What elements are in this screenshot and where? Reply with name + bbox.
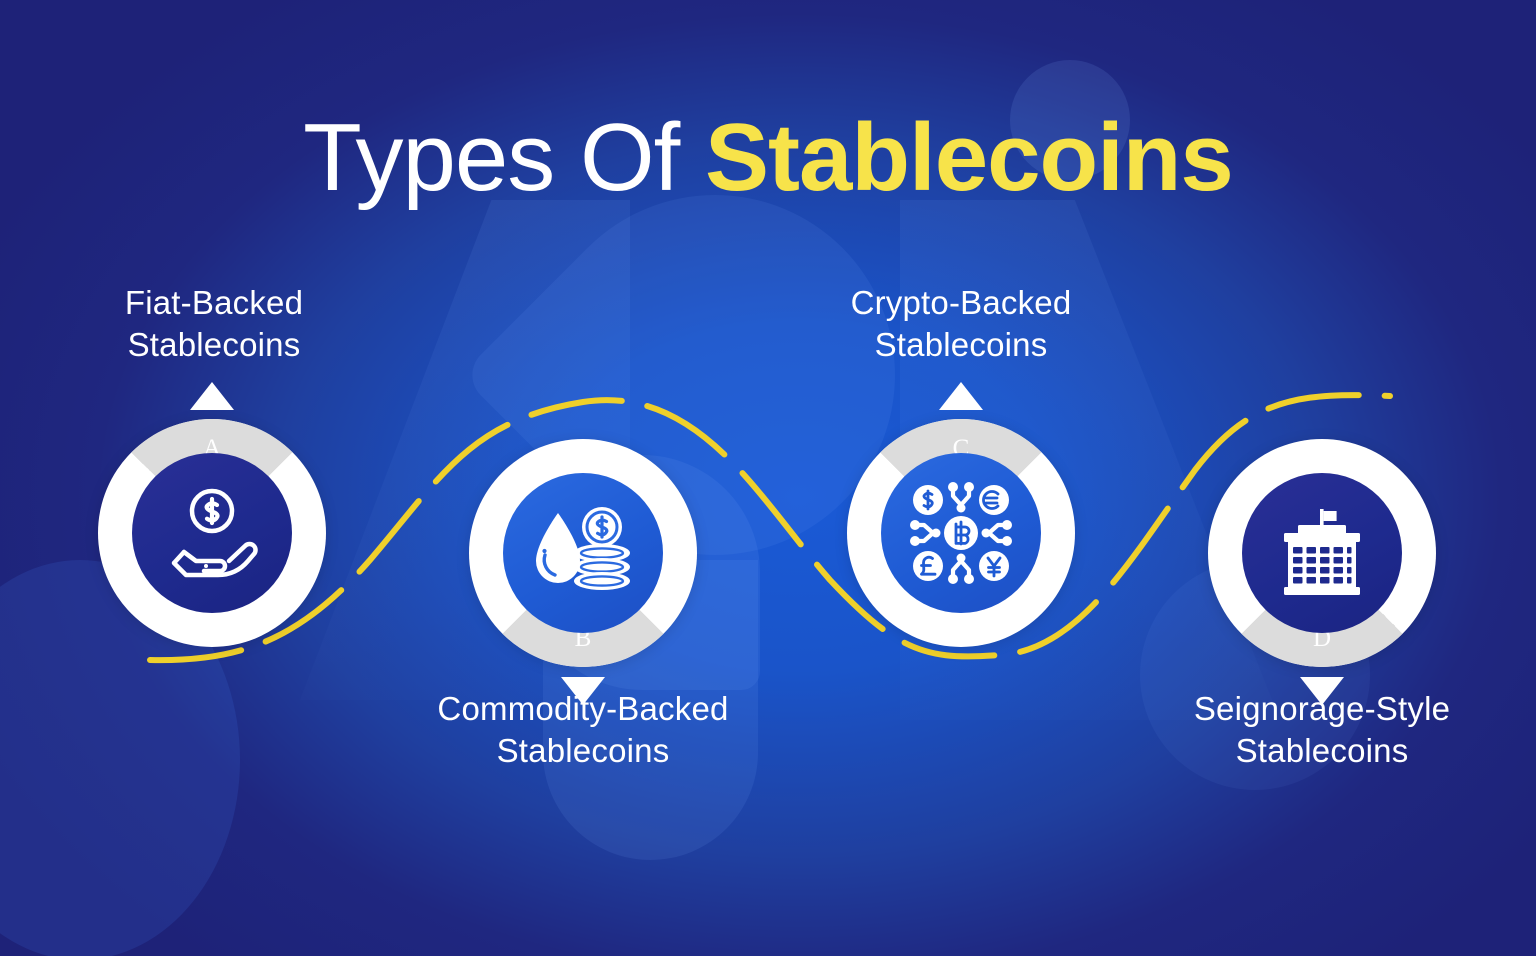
- bitcoin-currency-network-icon: [906, 478, 1016, 588]
- hand-holding-dollar-coin-icon: [160, 481, 264, 585]
- ring-d: D: [1208, 439, 1436, 667]
- icon-container-c: [881, 453, 1041, 613]
- icon-container-d: [1242, 473, 1402, 633]
- ring-c: C: [847, 419, 1075, 647]
- government-building-flag-icon: [1268, 505, 1376, 601]
- title-text-yellow: Stablecoins: [705, 104, 1233, 211]
- caption-crypto-backed: Crypto-Backed Stablecoins: [761, 282, 1161, 366]
- ring-a: A: [98, 419, 326, 647]
- ring-b: B: [469, 439, 697, 667]
- icon-container-a: [132, 453, 292, 613]
- infographic-canvas: Types Of Stablecoins A Fiat-Backed Stabl…: [0, 0, 1536, 956]
- pointer-up-a: [190, 382, 234, 410]
- title-text-white: Types Of: [303, 104, 705, 211]
- pointer-up-c: [939, 382, 983, 410]
- oil-drop-and-coin-stack-icon: [528, 501, 638, 605]
- caption-commodity-backed: Commodity-Backed Stablecoins: [378, 688, 788, 772]
- icon-container-b: [503, 473, 663, 633]
- page-title: Types Of Stablecoins: [0, 108, 1536, 209]
- caption-fiat-backed: Fiat-Backed Stablecoins: [14, 282, 414, 366]
- caption-seignorage-style: Seignorage-Style Stablecoins: [1122, 688, 1522, 772]
